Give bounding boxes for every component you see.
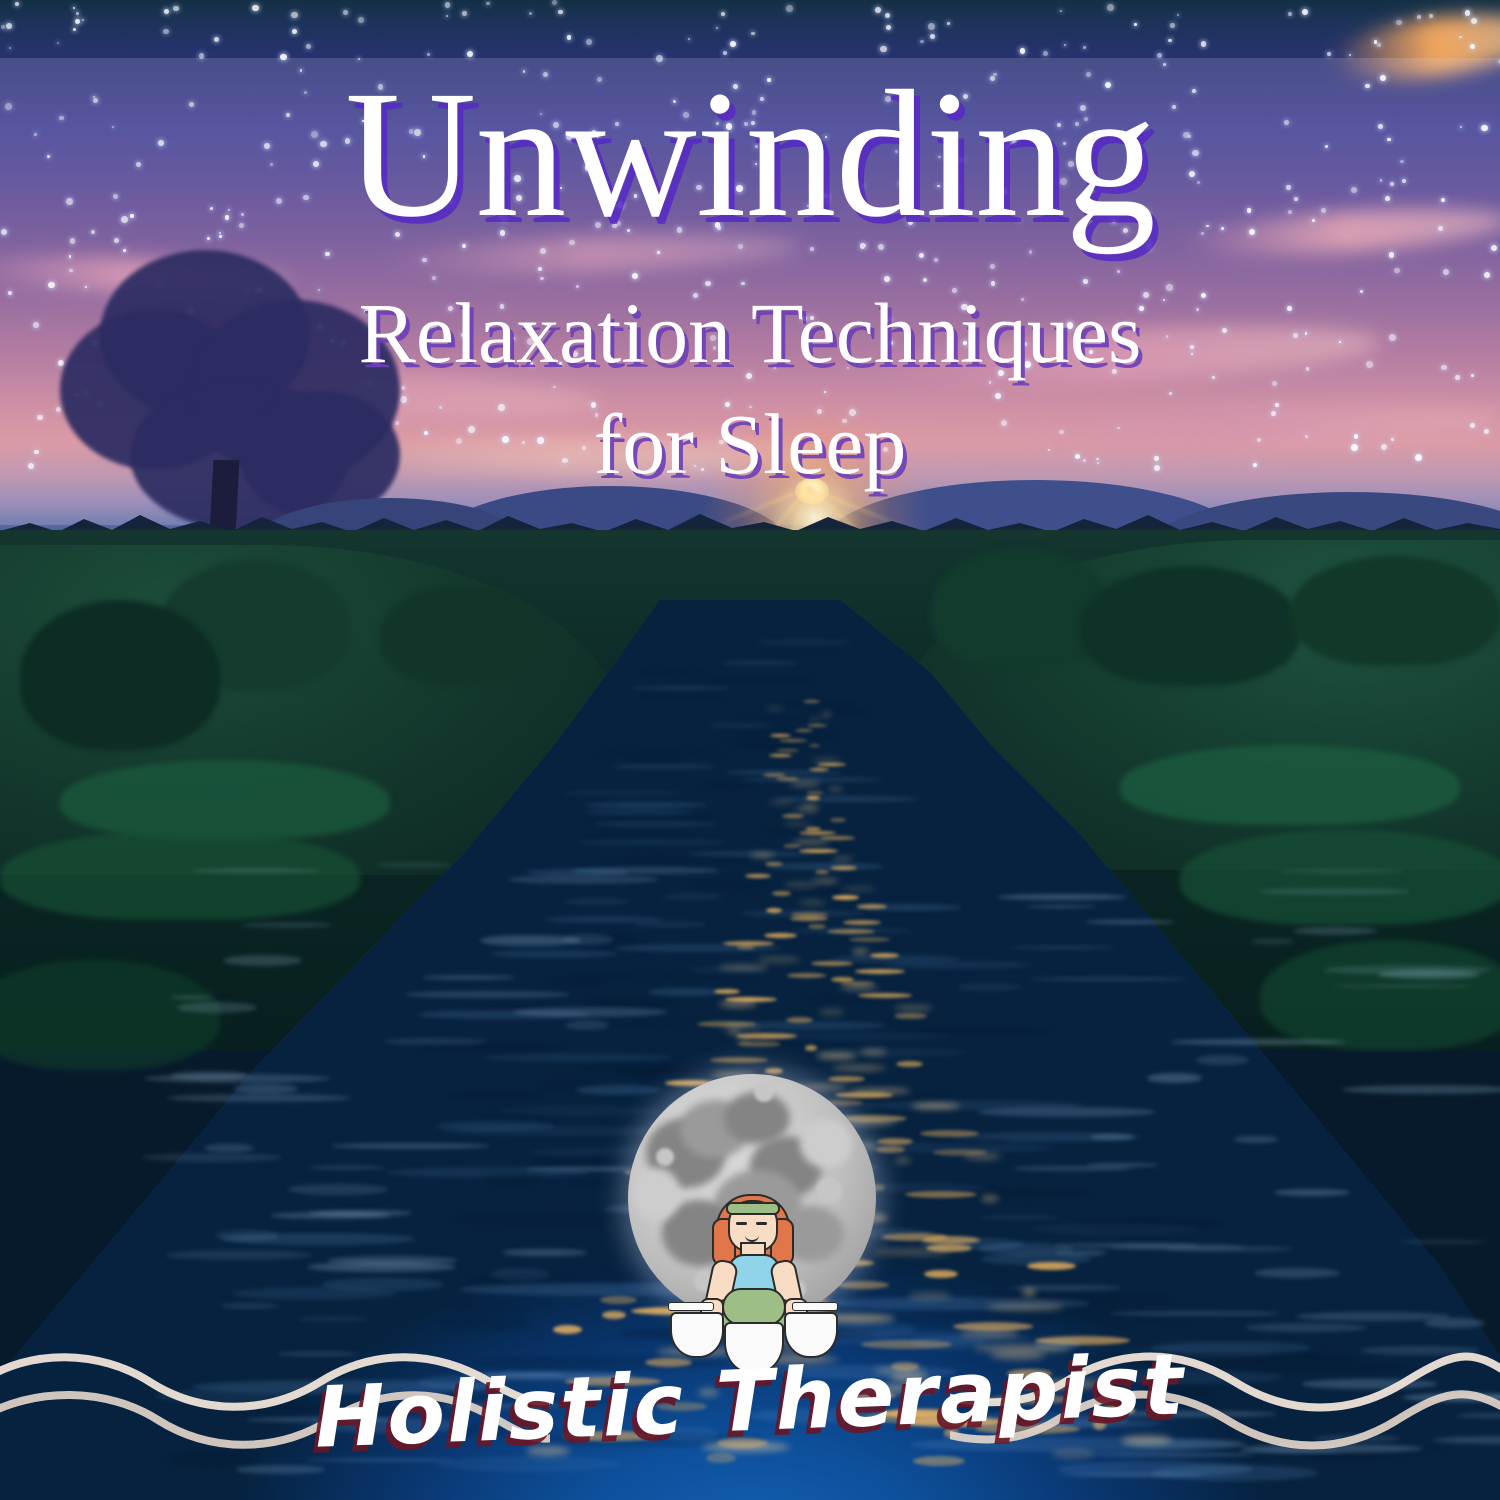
star <box>1302 9 1308 15</box>
star <box>928 23 935 30</box>
star <box>1157 53 1162 58</box>
water-crest <box>1054 1250 1107 1256</box>
sun-reflection-sparkle <box>714 989 740 994</box>
star <box>73 28 76 31</box>
water-ripple <box>448 1090 543 1100</box>
sun-reflection-sparkle <box>776 749 799 752</box>
sun-reflection-sparkle <box>809 718 821 721</box>
sun-reflection-sparkle <box>812 879 839 883</box>
water-crest <box>220 1303 279 1309</box>
water-crest <box>1055 1473 1205 1477</box>
sun-reflection-sparkle <box>764 933 797 938</box>
water-crest <box>1274 1189 1350 1196</box>
sun-reflection-sparkle <box>769 754 792 757</box>
star <box>920 40 924 44</box>
star <box>1064 44 1066 46</box>
star <box>1459 36 1461 38</box>
star <box>1083 46 1087 50</box>
sun-reflection-sparkle <box>757 957 801 962</box>
sun-reflection-sparkle <box>828 787 843 791</box>
star <box>358 17 364 23</box>
star <box>214 37 219 42</box>
water-ripple <box>578 839 726 845</box>
water-crest <box>215 1230 279 1241</box>
water-crest <box>571 867 720 874</box>
sun-reflection-sparkle <box>849 937 890 942</box>
mallet-icon <box>668 1302 714 1311</box>
water-ripple <box>595 821 717 827</box>
star <box>688 38 690 40</box>
water-crest <box>167 1094 351 1102</box>
star <box>1060 10 1063 13</box>
star <box>1020 48 1026 54</box>
water-crest <box>405 991 570 998</box>
water-ripple <box>638 670 708 674</box>
sun-reflection-sparkle <box>799 849 838 853</box>
sun-reflection-sparkle <box>770 734 791 737</box>
star <box>422 258 427 263</box>
star <box>75 19 80 24</box>
mallet-icon <box>792 1302 838 1311</box>
water-crest <box>142 1153 282 1162</box>
sun-reflection-sparkle <box>896 1061 923 1067</box>
water-ripple <box>564 898 629 905</box>
sun-reflection-sparkle <box>981 1195 999 1202</box>
sun-reflection-sparkle <box>792 840 830 844</box>
water-ripple <box>734 744 810 749</box>
sun-reflection-sparkle <box>786 1017 813 1023</box>
sun-reflection-sparkle <box>827 929 875 934</box>
water-ripple <box>760 652 843 656</box>
sun-reflection-sparkle <box>819 1009 844 1015</box>
water-ripple <box>739 716 815 721</box>
sun-reflection-sparkle <box>787 973 826 978</box>
water-crest <box>480 935 581 946</box>
water-ripple <box>632 686 731 690</box>
water-ripple <box>637 694 728 698</box>
sun-reflection-sparkle <box>905 1191 977 1198</box>
sun-reflection-sparkle <box>860 1049 887 1055</box>
star <box>73 7 76 10</box>
star <box>1429 14 1433 18</box>
sun-reflection-sparkle <box>806 796 820 800</box>
sun-reflection-sparkle <box>870 953 899 958</box>
sun-reflection-sparkle <box>809 768 829 771</box>
sun-reflection-sparkle <box>815 870 829 874</box>
sun-reflection-sparkle <box>809 744 820 747</box>
sun-reflection-sparkle <box>816 1053 857 1059</box>
water-crest <box>144 1074 330 1083</box>
water-crest <box>233 1084 298 1094</box>
sun-reflection-sparkle <box>738 1041 781 1047</box>
water-ripple <box>550 977 604 985</box>
water-ripple <box>757 640 851 644</box>
star <box>567 35 572 40</box>
water-crest <box>1147 1073 1202 1083</box>
star <box>173 6 179 12</box>
star <box>730 41 736 47</box>
water-crest <box>309 1166 385 1169</box>
water-crest <box>331 1143 490 1149</box>
water-ripple <box>662 893 722 900</box>
sun-reflection-sparkle <box>718 965 769 970</box>
star <box>292 29 297 34</box>
cover-subtitle: Relaxation Techniques for Sleep <box>0 278 1500 500</box>
star <box>164 9 169 14</box>
water-crest <box>1279 870 1404 873</box>
water-crest <box>1254 1268 1340 1278</box>
water-ripple <box>561 790 683 796</box>
water-crest <box>309 1210 412 1216</box>
sun-reflection-sparkle <box>706 1453 736 1463</box>
star <box>558 10 563 15</box>
water-crest <box>1293 927 1378 935</box>
water-crest <box>1090 1134 1134 1140</box>
star <box>1327 52 1331 56</box>
star <box>445 2 451 8</box>
water-crest <box>384 1038 488 1045</box>
water-crest <box>1342 1085 1500 1094</box>
sun-reflection-sparkle <box>772 891 791 896</box>
sun-reflection-sparkle <box>821 713 832 716</box>
star <box>934 258 938 262</box>
meditating-woman-icon <box>674 1192 830 1322</box>
sun-reflection-sparkle <box>840 985 878 990</box>
star <box>291 12 298 19</box>
sun-reflection-sparkle <box>920 1130 979 1137</box>
water-crest <box>1110 1311 1280 1316</box>
water-crest <box>508 875 659 884</box>
sun-reflection-sparkle <box>602 1311 626 1319</box>
star <box>6 23 12 29</box>
water-crest <box>1086 1163 1159 1167</box>
water-crest <box>1332 984 1474 988</box>
star <box>990 264 995 269</box>
cover-subtitle-line-2: for Sleep <box>0 389 1500 500</box>
star <box>462 11 467 16</box>
star <box>1377 43 1381 47</box>
sun-reflection-sparkle <box>808 924 826 929</box>
sun-reflection-sparkle <box>876 1146 905 1153</box>
water-ripple <box>456 1302 528 1315</box>
sun-reflection-sparkle <box>811 961 853 966</box>
star <box>1107 4 1114 11</box>
sun-reflection-sparkle <box>873 1248 951 1256</box>
sun-reflection-sparkle <box>790 916 828 921</box>
water-ripple <box>480 1111 547 1121</box>
water-ripple <box>709 723 773 728</box>
water-crest <box>1165 1246 1294 1252</box>
sun-reflection-sparkle <box>894 1013 927 1019</box>
star <box>552 0 557 5</box>
star <box>529 12 532 15</box>
water-ripple <box>577 972 760 980</box>
water-crest <box>1378 970 1480 979</box>
water-ripple <box>442 1317 528 1330</box>
sun-reflection-sparkle <box>737 945 755 950</box>
water-ripple <box>957 983 1022 991</box>
sun-reflection-sparkle <box>960 1329 1019 1338</box>
water-ripple <box>483 1053 671 1062</box>
star <box>1389 252 1395 258</box>
star <box>716 27 718 29</box>
star <box>280 54 287 61</box>
water-crest <box>297 1317 369 1321</box>
star <box>751 32 755 36</box>
sun-reflection-sparkle <box>987 1303 1064 1311</box>
brand-logo <box>628 1074 876 1322</box>
water-crest <box>1170 1039 1346 1045</box>
star <box>1170 23 1175 28</box>
star <box>1491 245 1497 251</box>
water-ripple <box>626 757 680 762</box>
sun-reflection-sparkle <box>922 1236 980 1244</box>
star <box>1134 23 1137 26</box>
sun-reflection-sparkle <box>719 1001 757 1007</box>
sun-reflection-sparkle <box>783 883 818 887</box>
star <box>486 2 489 5</box>
water-ripple <box>809 709 868 714</box>
sun-reflection-sparkle <box>908 1292 952 1300</box>
star <box>1117 270 1121 274</box>
sun-reflection-sparkle <box>852 949 869 954</box>
water-ripple <box>480 1173 544 1184</box>
sun-reflection-sparkle <box>789 782 821 786</box>
sun-reflection-sparkle <box>783 844 801 848</box>
sun-reflection-sparkle <box>840 887 877 891</box>
sun-reflection-sparkle <box>766 707 783 710</box>
sun-reflection-sparkle <box>812 759 841 762</box>
water-crest <box>1030 977 1188 981</box>
sun-reflection-sparkle <box>782 814 804 818</box>
star <box>1396 20 1402 26</box>
sun-reflection-sparkle <box>766 908 782 913</box>
water-crest <box>241 922 332 928</box>
sun-reflection-sparkle <box>765 862 783 866</box>
water-ripple <box>884 961 1031 969</box>
water-ripple <box>603 857 754 863</box>
star <box>886 25 891 30</box>
water-ripple <box>766 863 884 870</box>
water-crest <box>513 1007 667 1017</box>
sun-reflection-sparkle <box>924 1270 958 1278</box>
star <box>1177 14 1180 17</box>
sun-reflection-sparkle <box>803 700 820 703</box>
water-ripple <box>593 751 723 756</box>
star <box>930 34 935 39</box>
water-crest <box>997 894 1127 900</box>
water-crest <box>422 975 515 980</box>
sun-reflection-sparkle <box>779 739 807 742</box>
water-crest <box>1234 1136 1278 1143</box>
sun-reflection-sparkle <box>857 904 887 909</box>
sun-reflection-sparkle <box>895 1157 911 1164</box>
cover-title: Unwinding <box>0 64 1500 246</box>
star <box>1 25 5 29</box>
water-crest <box>327 1256 458 1265</box>
water-crest <box>166 1250 312 1260</box>
water-ripple <box>721 661 799 665</box>
album-cover: Unwinding Relaxation Techniques for Slee… <box>0 0 1500 1500</box>
star <box>163 29 169 35</box>
water-crest <box>502 1249 587 1256</box>
sun-reflection-sparkle <box>795 729 813 732</box>
water-crest <box>288 1184 388 1195</box>
water-crest <box>1401 1240 1487 1244</box>
water-crest <box>1011 946 1115 949</box>
sun-reflection-sparkle <box>807 724 827 727</box>
sun-reflection-sparkle <box>1027 1262 1076 1270</box>
water-ripple <box>704 678 816 682</box>
star <box>875 7 881 13</box>
sun-reflection-sparkle <box>855 969 905 974</box>
sun-reflection-sparkle <box>710 1057 768 1063</box>
water-crest <box>170 996 213 999</box>
water-ripple <box>703 783 756 789</box>
sun-reflection-sparkle <box>782 822 811 826</box>
star <box>446 15 448 17</box>
cover-subtitle-line-1: Relaxation Techniques <box>0 278 1500 389</box>
sun-reflection-sparkle <box>894 1005 933 1011</box>
star <box>586 39 592 45</box>
sun-reflection-sparkle <box>832 1065 886 1071</box>
water-crest <box>979 1216 1059 1219</box>
water-crest <box>223 955 302 966</box>
star <box>538 267 542 271</box>
star <box>721 12 725 16</box>
star <box>1394 268 1399 273</box>
star <box>1470 44 1475 49</box>
star <box>57 42 59 44</box>
star <box>76 12 79 15</box>
sun-reflection-sparkle <box>830 866 857 870</box>
water-ripple <box>648 988 723 996</box>
star <box>1349 54 1351 56</box>
star <box>1443 269 1450 276</box>
sun-reflection-sparkle <box>843 920 881 925</box>
water-ripple <box>232 1287 397 1300</box>
water-crest <box>978 1107 1156 1117</box>
sun-reflection-sparkle <box>745 874 771 878</box>
star <box>343 10 348 15</box>
star <box>252 5 259 12</box>
star <box>1201 41 1207 47</box>
water-crest <box>1011 1285 1121 1291</box>
water-crest <box>192 869 320 872</box>
water-crest <box>1196 1055 1249 1065</box>
sun-reflection-sparkle <box>806 791 824 795</box>
water-crest <box>1251 938 1294 945</box>
star <box>82 19 84 21</box>
sun-reflection-sparkle <box>877 1138 913 1145</box>
star <box>880 46 887 53</box>
water-ripple <box>689 881 766 888</box>
star <box>786 5 793 12</box>
sun-reflection-sparkle <box>776 777 799 781</box>
water-crest <box>1085 920 1175 924</box>
sun-reflection-sparkle <box>817 763 846 766</box>
water-ripple <box>585 802 707 808</box>
water-ripple <box>1031 1223 1199 1235</box>
sun-reflection-sparkle <box>820 836 855 840</box>
water-crest <box>1258 888 1411 895</box>
star <box>1288 12 1292 16</box>
sun-reflection-sparkle <box>858 993 912 998</box>
water-crest <box>376 862 452 868</box>
star <box>1168 39 1172 43</box>
sun-reflection-sparkle <box>964 1153 1001 1160</box>
star <box>15 2 19 6</box>
star <box>1471 18 1477 24</box>
sun-reflection-sparkle <box>750 853 775 857</box>
star <box>1465 10 1471 16</box>
star <box>199 53 204 58</box>
sun-reflection-sparkle <box>553 1325 582 1334</box>
sun-reflection-sparkle <box>805 1045 817 1051</box>
sun-reflection-sparkle <box>791 809 820 813</box>
star <box>1374 40 1377 43</box>
water-crest <box>1026 905 1096 908</box>
water-crest <box>177 1002 257 1013</box>
star <box>885 13 890 18</box>
sun-reflection-sparkle <box>799 900 826 905</box>
water-crest <box>204 1144 254 1152</box>
sun-reflection-sparkle <box>911 1103 960 1109</box>
star <box>947 22 951 26</box>
sun-reflection-sparkle <box>832 895 859 900</box>
sun-reflection-sparkle <box>830 818 846 822</box>
water-ripple <box>634 921 707 928</box>
sun-reflection-sparkle <box>769 800 795 804</box>
sun-reflection-sparkle <box>799 831 836 835</box>
star <box>1417 15 1421 19</box>
sun-reflection-sparkle <box>832 857 853 861</box>
water-ripple <box>776 796 919 802</box>
water-ripple <box>490 950 618 958</box>
water-ripple <box>613 764 715 769</box>
star <box>9 47 11 49</box>
water-crest <box>565 1020 609 1030</box>
star <box>306 44 311 49</box>
